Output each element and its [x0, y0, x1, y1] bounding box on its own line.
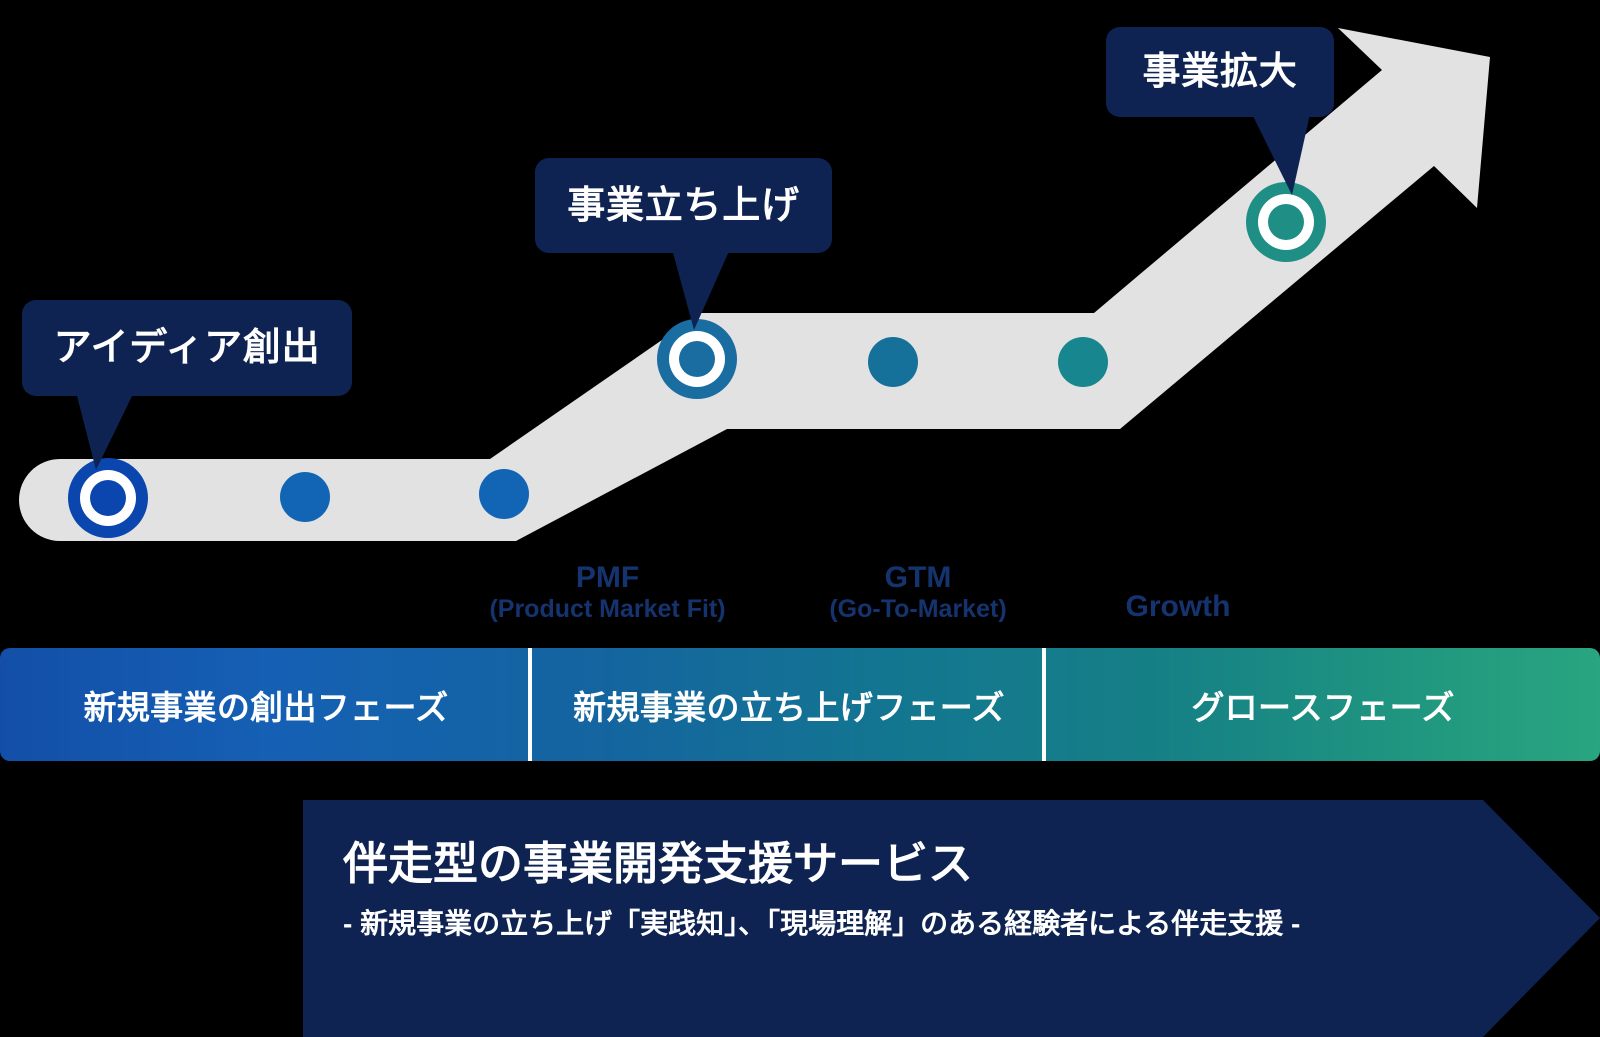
- stage-label-gtm: GTM (Go-To-Market): [808, 561, 1028, 623]
- service-banner-title: 伴走型の事業開発支援サービス: [343, 836, 1463, 892]
- callout-launch[interactable]: 事業立ち上げ: [535, 158, 832, 253]
- stage-label-gtm-abbr: GTM: [808, 561, 1028, 595]
- callout-expand[interactable]: 事業拡大: [1106, 27, 1334, 117]
- stage-label-pmf-full: (Product Market Fit): [455, 595, 760, 623]
- phase-cell-growth-label: グロースフェーズ: [1191, 681, 1454, 729]
- stage-label-growth: Growth: [1078, 590, 1278, 624]
- stage-label-pmf-abbr: PMF: [455, 561, 760, 595]
- callout-expand-label: 事業拡大: [1142, 53, 1297, 91]
- phase-cell-creation[interactable]: 新規事業の創出フェーズ: [0, 648, 532, 761]
- phase-cell-launch[interactable]: 新規事業の立ち上げフェーズ: [532, 648, 1046, 761]
- stage-label-gtm-full: (Go-To-Market): [808, 595, 1028, 623]
- service-banner-text: 伴走型の事業開発支援サービス - 新規事業の立ち上げ「実践知」、「現場理解」のあ…: [343, 836, 1463, 943]
- callout-idea-label: アイディア創出: [54, 329, 321, 367]
- phase-cell-creation-label: 新規事業の創出フェーズ: [84, 681, 449, 729]
- callout-idea[interactable]: アイディア創出: [22, 300, 352, 396]
- callout-launch-label: 事業立ち上げ: [567, 187, 800, 225]
- stage-label-pmf: PMF (Product Market Fit): [455, 561, 760, 623]
- diagram-canvas: アイディア創出 事業立ち上げ 事業拡大 PMF (Product Market …: [0, 0, 1600, 1037]
- phase-bar: 新規事業の創出フェーズ 新規事業の立ち上げフェーズ グロースフェーズ: [0, 648, 1600, 761]
- service-banner-subtitle: - 新規事業の立ち上げ「実践知」、「現場理解」のある経験者による伴走支援 -: [343, 906, 1463, 942]
- callout-tail-launch: [672, 249, 730, 330]
- stage-label-growth-abbr: Growth: [1078, 590, 1278, 624]
- callout-tail-expand: [1252, 114, 1310, 195]
- phase-cell-growth[interactable]: グロースフェーズ: [1046, 648, 1600, 761]
- service-banner: 伴走型の事業開発支援サービス - 新規事業の立ち上げ「実践知」、「現場理解」のあ…: [303, 800, 1600, 1037]
- phase-cell-launch-label: 新規事業の立ち上げフェーズ: [573, 681, 1005, 729]
- callout-tail-idea: [76, 392, 134, 470]
